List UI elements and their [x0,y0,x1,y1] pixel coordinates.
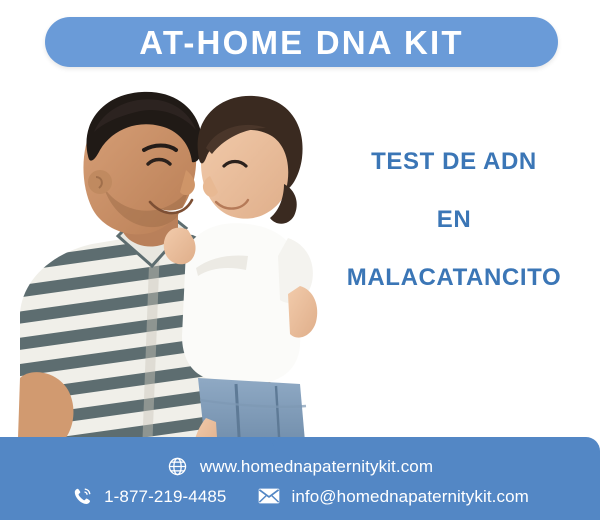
poster-canvas: AT-HOME DNA KIT [0,0,600,520]
headline-line-3: MALACATANCITO [318,266,590,290]
page-title: AT-HOME DNA KIT [139,26,463,59]
headline-line-2: EN [318,208,590,232]
footer-website[interactable]: www.homednapaternitykit.com [167,455,433,477]
footer-phone-text: 1-877-219-4485 [104,488,226,505]
header-banner: AT-HOME DNA KIT [45,17,558,67]
phone-icon [71,485,93,507]
envelope-icon [258,485,280,507]
footer-band-notch [0,437,275,453]
headline-line-1: TEST DE ADN [318,150,590,174]
family-photo [0,78,320,453]
globe-icon [167,455,189,477]
footer-email-text: info@homednapaternitykit.com [291,488,528,505]
headline-block: TEST DE ADN EN MALACATANCITO [318,150,590,290]
footer-website-row: www.homednapaternitykit.com [0,455,600,477]
family-photo-illustration [0,78,320,453]
footer-phone[interactable]: 1-877-219-4485 [71,485,226,507]
footer-contact-row: 1-877-219-4485 info@homednapaternitykit.… [0,485,600,507]
footer-email[interactable]: info@homednapaternitykit.com [258,485,528,507]
footer-website-text: www.homednapaternitykit.com [200,458,433,475]
